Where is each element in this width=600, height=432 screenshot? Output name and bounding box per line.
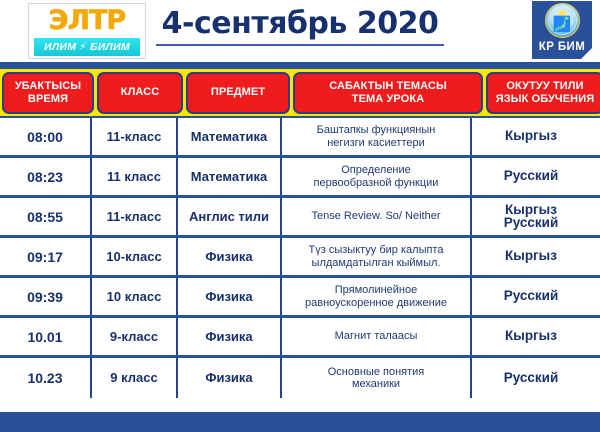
cell-subject: Физика (178, 358, 282, 398)
cell-topic: Tense Review. So/ Neither (282, 198, 472, 235)
table-row: 10.23 9 класс Физика Основные понятия ме… (0, 358, 600, 398)
column-header-class: КЛАСС (97, 72, 183, 114)
cell-time: 10.23 (0, 358, 92, 398)
page-title: 4-сентябрь 2020 (156, 6, 445, 46)
cell-topic-text: Основные понятия механики (328, 366, 425, 391)
cell-language-text: Русский (504, 290, 559, 303)
schedule-page: ЭЛТР ИЛИМ ⚡ БИЛИМ 4-сентябрь 2020 🗾 КР Б… (0, 0, 600, 432)
cell-time: 09:17 (0, 238, 92, 275)
cell-language-text: Русский (504, 170, 559, 183)
page-fold-icon (581, 48, 592, 59)
column-header-time: УБАКТЫСЫ ВРЕМЯ (2, 72, 94, 114)
cell-time: 09:39 (0, 278, 92, 315)
cell-subject: Англис тили (178, 198, 282, 235)
cell-class: 9-класс (92, 318, 178, 355)
cell-topic: Прямолинейное равноускоренное движение (282, 278, 472, 315)
cell-language-text: Русский (504, 372, 559, 385)
cell-topic-text: Магнит талаасы (335, 330, 418, 343)
column-header-time-ru: ВРЕМЯ (28, 93, 68, 106)
cell-topic-text: Түз сызыктуу бир калыпта ылдамдатылган к… (309, 244, 444, 269)
page-header: ЭЛТР ИЛИМ ⚡ БИЛИМ 4-сентябрь 2020 🗾 КР Б… (0, 0, 600, 62)
column-header-subject: ПРЕДМЕТ (186, 72, 290, 114)
table-row: 08:23 11 класс Математика Определение пе… (0, 158, 600, 198)
table-header-row: УБАКТЫСЫ ВРЕМЯ КЛАСС ПРЕДМЕТ САБАКТЫН ТЕ… (0, 68, 600, 118)
cell-subject: Математика (178, 158, 282, 195)
cell-subject: Математика (178, 118, 282, 155)
cell-topic: Основные понятия механики (282, 358, 472, 398)
cell-language: Русский (472, 278, 590, 315)
cell-time: 08:00 (0, 118, 92, 155)
column-header-language: ОКУТУУ ТИЛИ ЯЗЫК ОБУЧЕНИЯ (486, 72, 600, 114)
cell-language: Кыргыз (472, 118, 590, 155)
cell-subject: Физика (178, 238, 282, 275)
kr-bim-logo-label: КР БИМ (539, 41, 585, 53)
cell-class: 11 класс (92, 158, 178, 195)
column-header-topic-ru: ТЕМА УРОКА (352, 93, 424, 106)
cell-language: Кыргыз (472, 238, 590, 275)
cell-class: 9 класс (92, 358, 178, 398)
table-row: 09:17 10-класс Физика Түз сызыктуу бир к… (0, 238, 600, 278)
cell-time: 08:23 (0, 158, 92, 195)
table-row: 09:39 10 класс Физика Прямолинейное равн… (0, 278, 600, 318)
kr-bim-logo: 🗾 КР БИМ (532, 1, 592, 59)
cell-topic: Түз сызыктуу бир калыпта ылдамдатылган к… (282, 238, 472, 275)
column-header-class-label: КЛАСС (121, 86, 160, 99)
cell-language-text: Кыргыз (505, 130, 557, 143)
falcon-icon: 🗾 (553, 17, 572, 32)
cell-topic: Определение первообразной функции (282, 158, 472, 195)
cell-subject: Физика (178, 318, 282, 355)
cell-topic-text: Прямолинейное равноускоренное движение (305, 284, 447, 309)
column-header-language-kg: ОКУТУУ ТИЛИ (506, 80, 583, 93)
cell-topic: Магнит талаасы (282, 318, 472, 355)
cell-language-text: Кыргыз Русский (504, 204, 559, 229)
cell-class: 10-класс (92, 238, 178, 275)
cell-language: Кыргыз (472, 318, 590, 355)
table-row: 10.01 9-класс Физика Магнит талаасы Кырг… (0, 318, 600, 358)
cell-topic-text: Определение первообразной функции (314, 164, 439, 189)
cell-language: Русский (472, 158, 590, 195)
page-title-wrap: 4-сентябрь 2020 (0, 6, 600, 46)
cell-time: 10.01 (0, 318, 92, 355)
column-header-subject-label: ПРЕДМЕТ (211, 86, 265, 99)
cell-language-text: Кыргыз (505, 330, 557, 343)
column-header-time-kg: УБАКТЫСЫ (15, 80, 81, 93)
cell-class: 11-класс (92, 198, 178, 235)
table-row: 08:55 11-класс Англис тили Tense Review.… (0, 198, 600, 238)
schedule-table-body: 08:00 11-класс Математика Баштапкы функц… (0, 118, 600, 398)
column-header-topic-kg: САБАКТЫН ТЕМАСЫ (329, 80, 447, 93)
cell-language: Кыргыз Русский (472, 198, 590, 235)
cell-topic-text: Баштапкы функциянын негизги касиеттери (317, 124, 436, 149)
table-row: 08:00 11-класс Математика Баштапкы функц… (0, 118, 600, 158)
cell-language: Русский (472, 358, 590, 398)
kyrgyzstan-coat-of-arms-icon: 🗾 (545, 3, 580, 38)
cell-class: 11-класс (92, 118, 178, 155)
column-header-topic: САБАКТЫН ТЕМАСЫ ТЕМА УРОКА (293, 72, 483, 114)
column-header-language-ru: ЯЗЫК ОБУЧЕНИЯ (496, 93, 595, 106)
cell-time: 08:55 (0, 198, 92, 235)
cell-class: 10 класс (92, 278, 178, 315)
footer-band (0, 412, 600, 432)
cell-topic: Баштапкы функциянын негизги касиеттери (282, 118, 472, 155)
cell-topic-text: Tense Review. So/ Neither (311, 210, 440, 223)
cell-language-text: Кыргыз (505, 250, 557, 263)
cell-subject: Физика (178, 278, 282, 315)
